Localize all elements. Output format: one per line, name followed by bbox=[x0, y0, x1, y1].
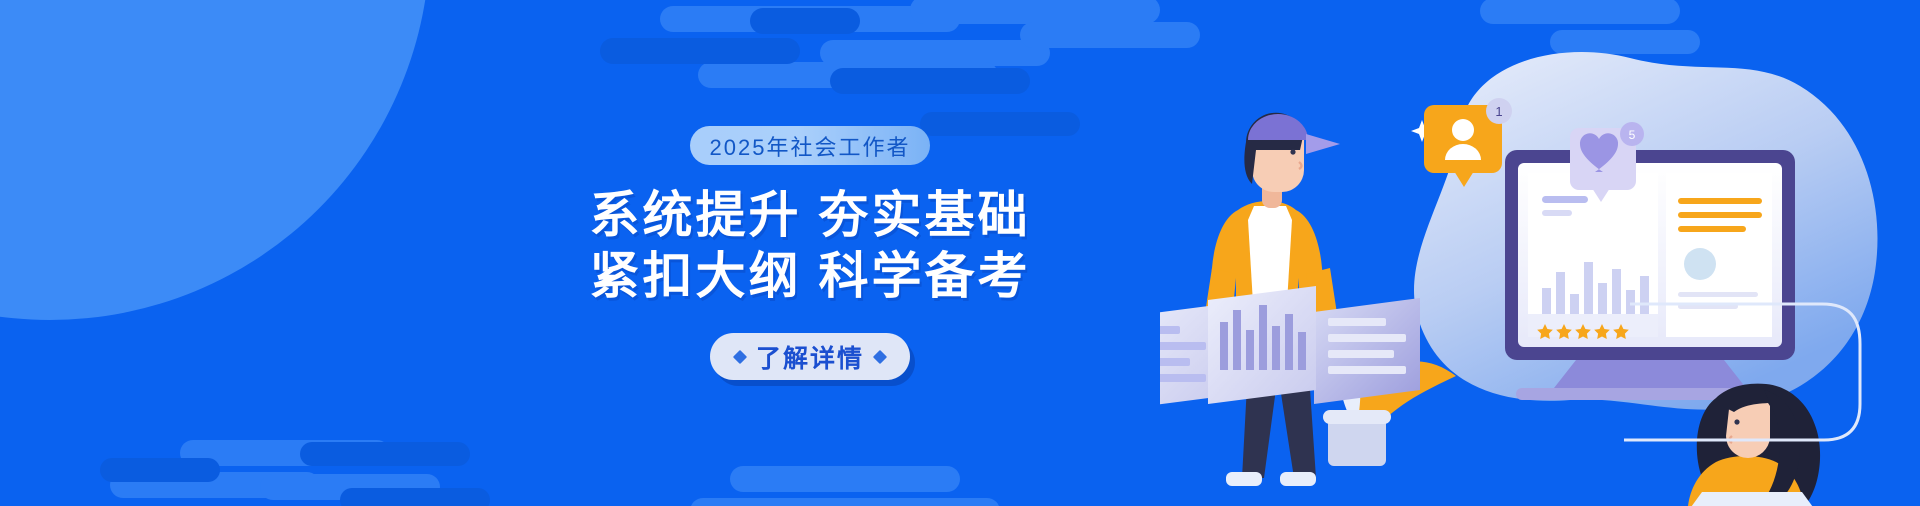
banner-content: 2025年社会工作者 系统提升 夯实基础 紧扣大纲 科学备考 了解详情 bbox=[560, 0, 1060, 506]
cloud-decoration-bottom-left bbox=[100, 440, 520, 506]
headline-line-1: 系统提升 夯实基础 bbox=[590, 185, 1031, 246]
chart-board-illustration bbox=[1160, 286, 1420, 410]
learn-more-button-label: 了解详情 bbox=[756, 339, 864, 375]
corner-circle-decoration bbox=[0, 0, 430, 320]
promo-banner: 2025年社会工作者 系统提升 夯实基础 紧扣大纲 科学备考 了解详情 bbox=[0, 0, 1920, 506]
like-badge-count: 5 bbox=[1629, 128, 1636, 142]
learn-more-button[interactable]: 了解详情 bbox=[710, 333, 910, 380]
hero-illustration: 1 5 bbox=[1160, 0, 1920, 506]
follower-badge-count: 1 bbox=[1495, 104, 1502, 119]
diamond-bullet-right-icon bbox=[873, 349, 887, 363]
cloud-decoration-bottom-left-dark bbox=[100, 440, 520, 506]
badge-year-tag: 2025年社会工作者 bbox=[690, 126, 931, 165]
diamond-bullet-left-icon bbox=[733, 349, 747, 363]
headline-line-2: 紧扣大纲 科学备考 bbox=[590, 246, 1031, 307]
